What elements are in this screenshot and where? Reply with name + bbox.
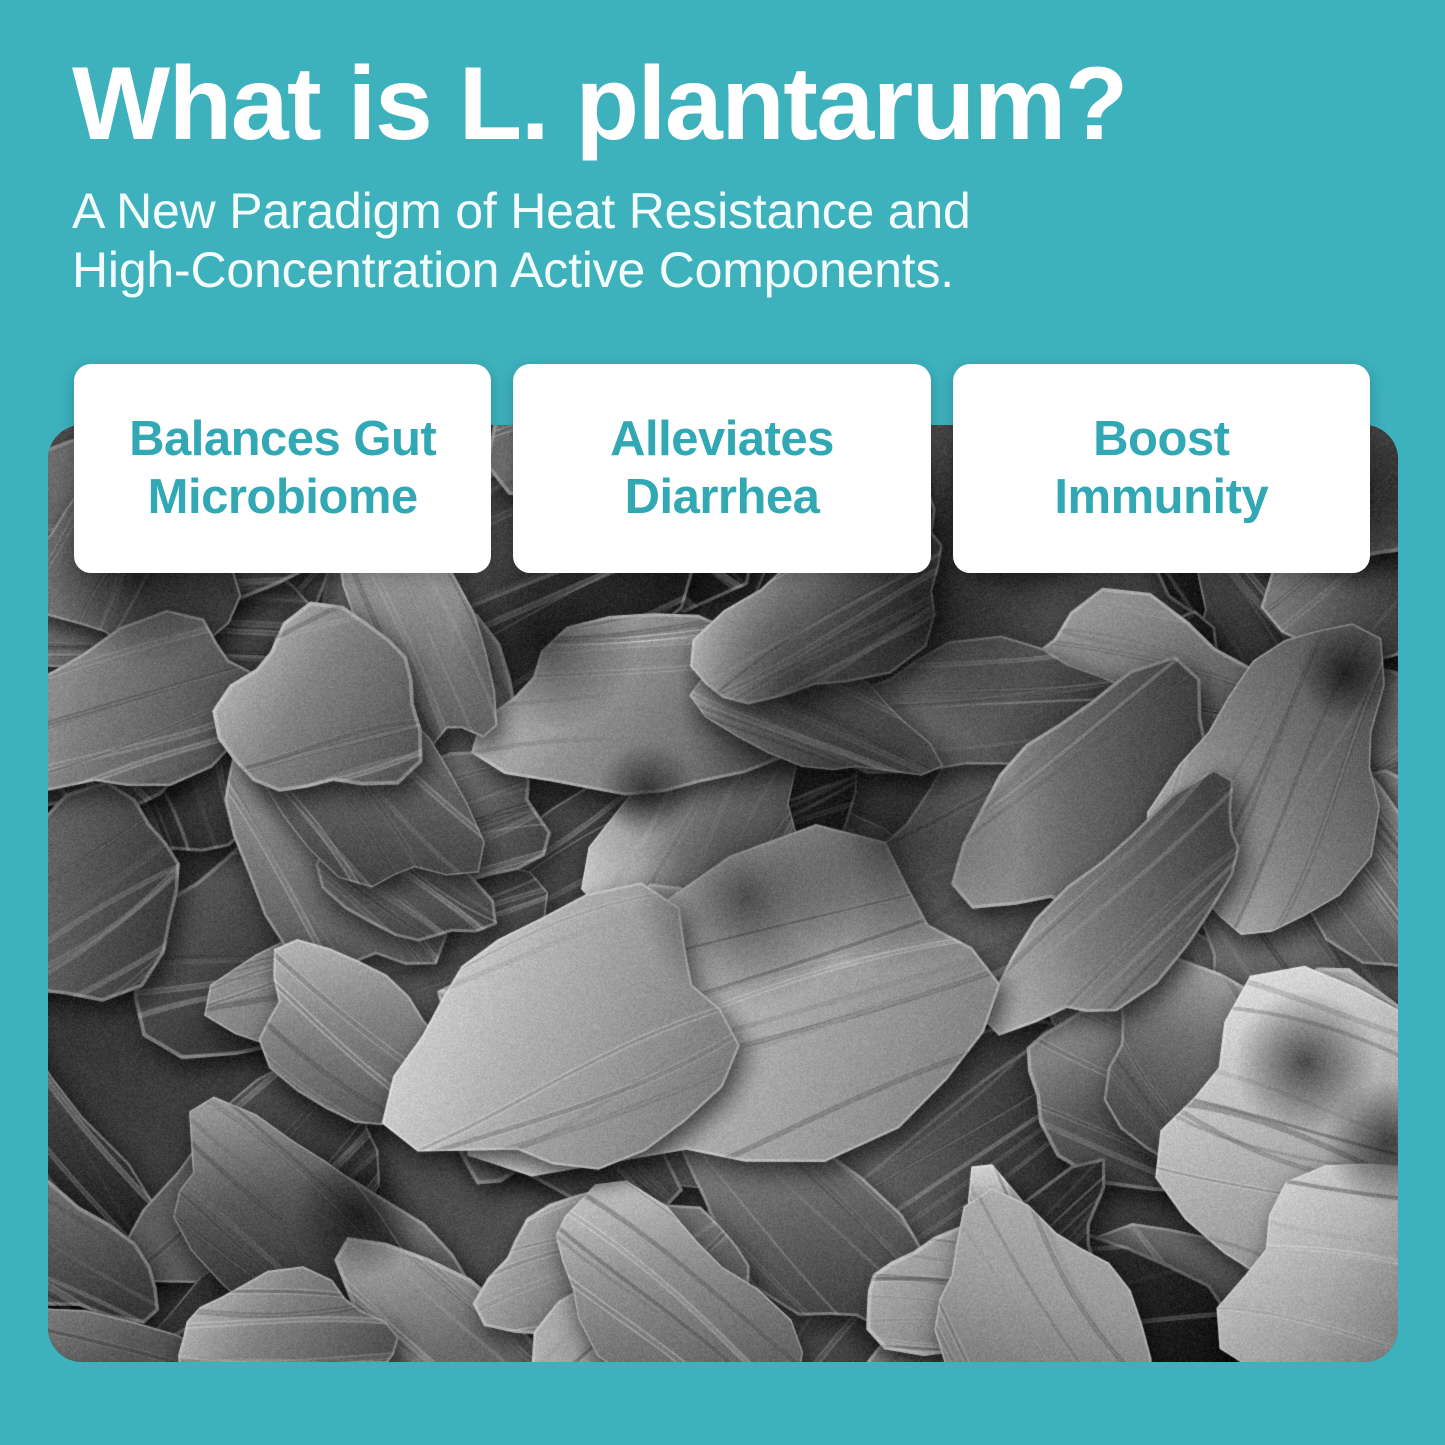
page-subtitle-line-1: A New Paradigm of Heat Resistance and (72, 182, 1072, 241)
header-block: What is L. plantarum? A New Paradigm of … (72, 52, 1372, 300)
benefit-card-boost-immunity[interactable]: Boost Immunity (953, 364, 1370, 573)
benefit-card-label: Balances Gut Microbiome (129, 411, 436, 527)
infographic-root: What is L. plantarum? A New Paradigm of … (0, 0, 1445, 1445)
page-title: What is L. plantarum? (72, 52, 1372, 156)
benefit-card-label: Boost Immunity (1054, 411, 1268, 527)
benefit-card-label: Alleviates Diarrhea (610, 411, 834, 527)
page-subtitle: A New Paradigm of Heat Resistance and Hi… (72, 182, 1072, 300)
benefit-card-balances-gut-microbiome[interactable]: Balances Gut Microbiome (74, 364, 491, 573)
benefit-cards-row: Balances Gut Microbiome Alleviates Diarr… (74, 364, 1370, 573)
benefit-card-alleviates-diarrhea[interactable]: Alleviates Diarrhea (513, 364, 930, 573)
page-subtitle-line-2: High-Concentration Active Components. (72, 241, 1072, 300)
